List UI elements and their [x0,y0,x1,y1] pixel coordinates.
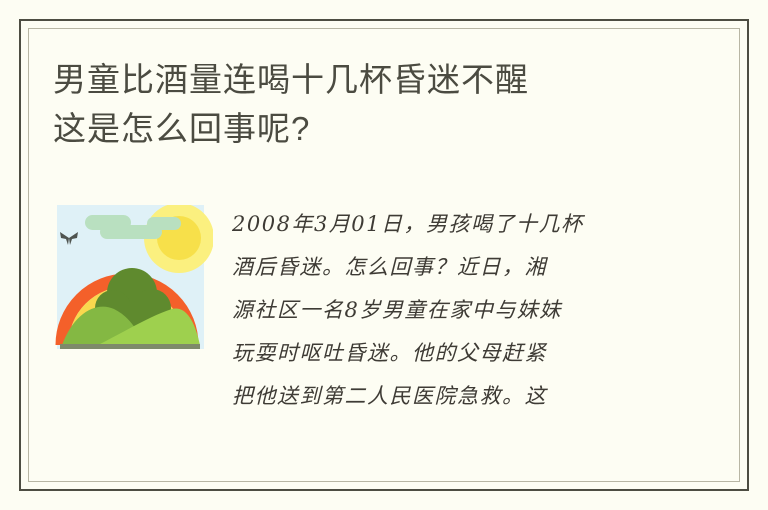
title-line-2: 这是怎么回事呢? [53,104,713,153]
ground-line [60,344,200,349]
illustration-svg [52,205,213,357]
article-card: 男童比酒量连喝十几杯昏迷不醒 这是怎么回事呢? [0,0,768,510]
page-title: 男童比酒量连喝十几杯昏迷不醒 这是怎么回事呢? [53,55,713,153]
article-body: 2008年3月01日，男孩喝了十几杯 酒后昏迷。怎么回事？近日，湘 源社区一名8… [232,203,672,418]
body-line-4: 玩耍时呕吐昏迷。他的父母赶紧 [232,332,672,375]
body-line-1: 2008年3月01日，男孩喝了十几杯 [232,203,672,246]
rainbow-landscape-illustration [52,205,213,357]
body-line-5: 把他送到第二人民医院急救。这 [232,375,672,418]
body-line-3: 源社区一名8岁男童在家中与妹妹 [232,289,672,332]
title-line-1: 男童比酒量连喝十几杯昏迷不醒 [53,55,713,104]
body-line-2: 酒后昏迷。怎么回事？近日，湘 [232,246,672,289]
article-content: 2008年3月01日，男孩喝了十几杯 酒后昏迷。怎么回事？近日，湘 源社区一名8… [52,203,712,463]
